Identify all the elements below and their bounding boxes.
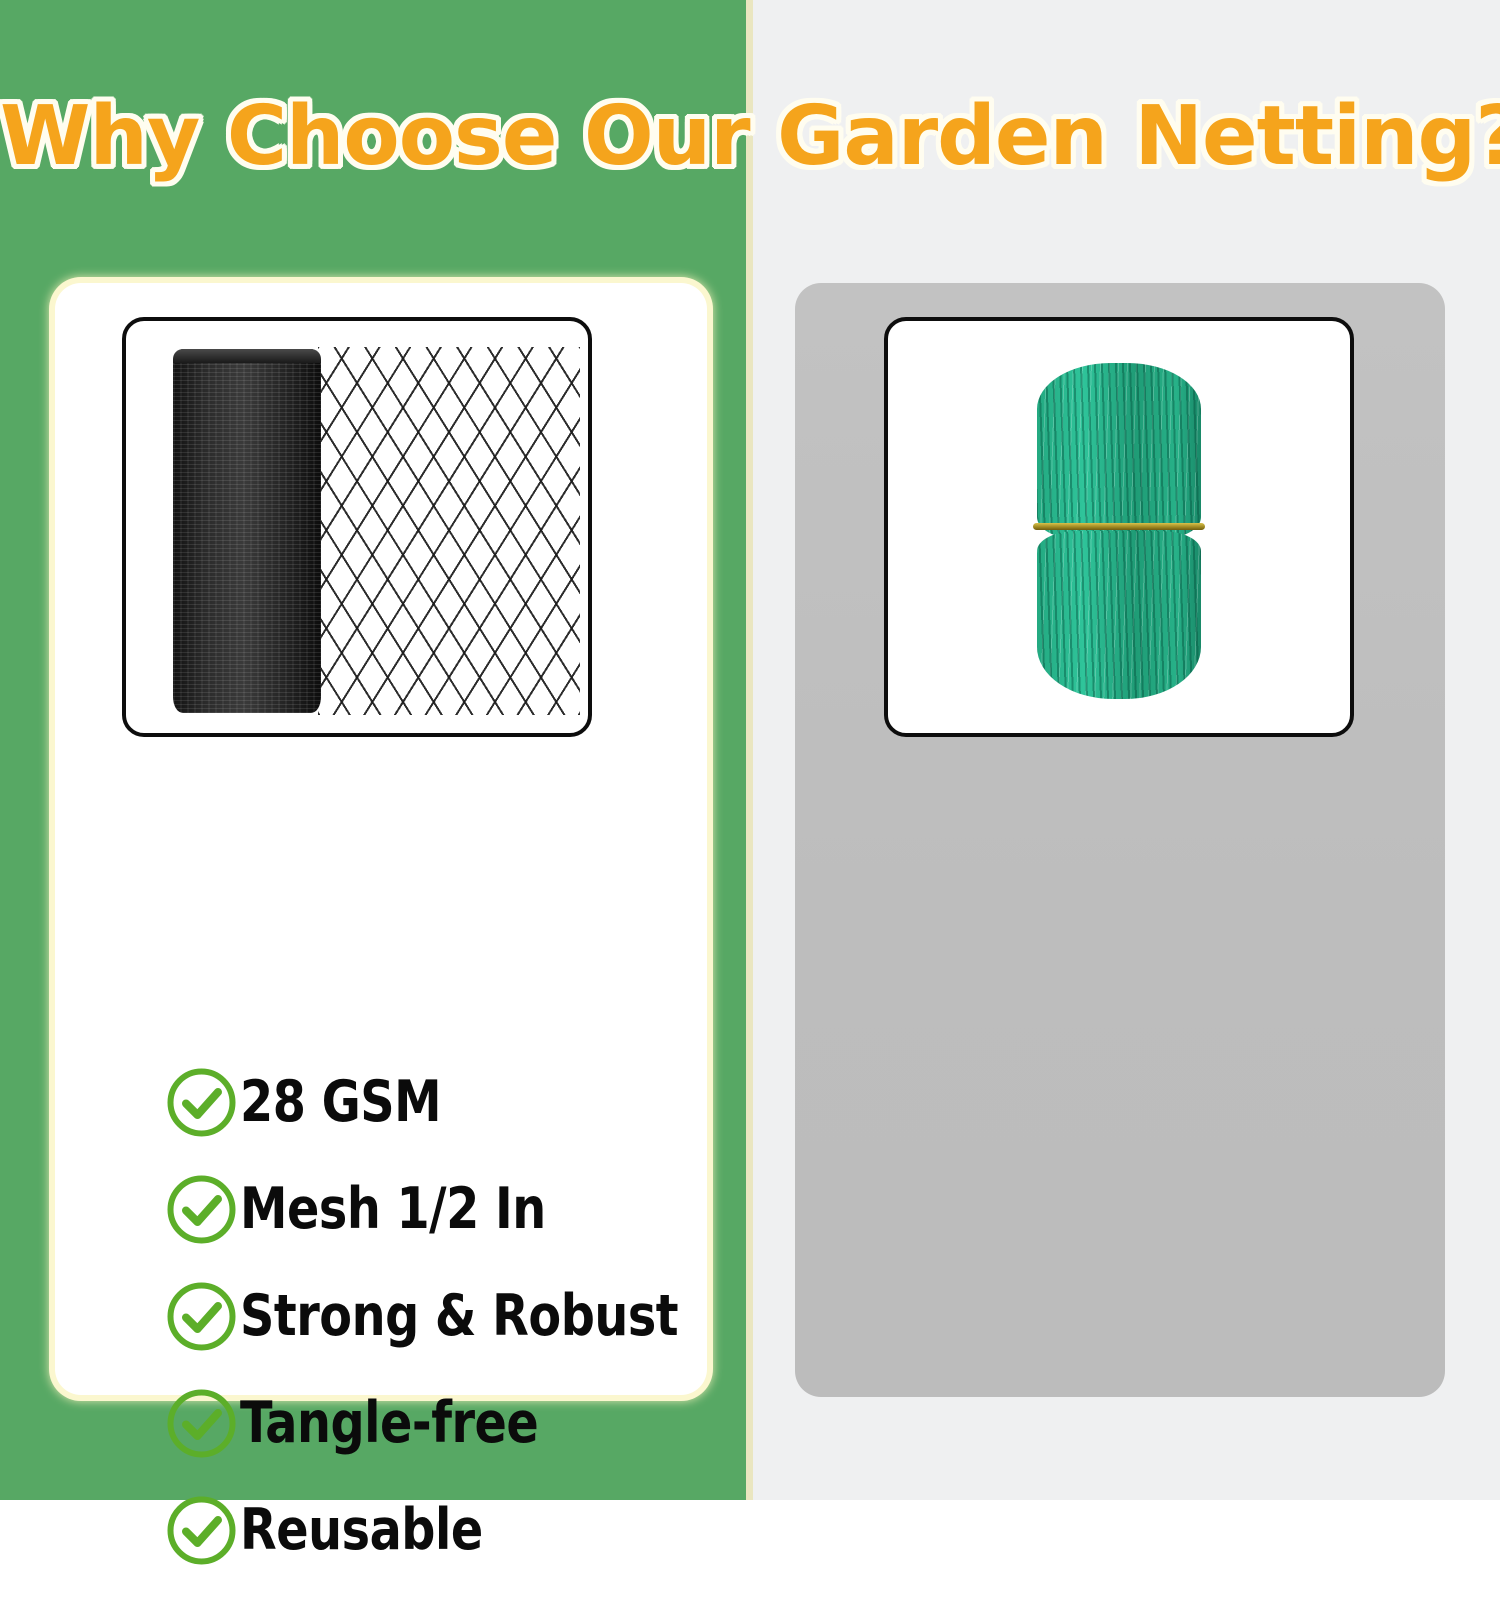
feature-list-ours: 28 GSM Mesh 1/2 In Str [165, 1066, 725, 1601]
mesh-pattern [318, 347, 580, 715]
feature-label: Strong & Robust [240, 1288, 678, 1345]
check-circle-icon [165, 1387, 238, 1460]
list-item: Tangle-free [165, 1387, 725, 1460]
infographic-canvas: Why Choose Our Garden Netting? 28 GSM [0, 0, 1500, 1500]
check-circle-icon [165, 1280, 238, 1353]
netting-roll [173, 349, 321, 713]
feature-label: Reusable [240, 1502, 483, 1559]
check-circle-icon [165, 1066, 238, 1139]
product-photo-black-netting-roll [122, 317, 592, 737]
bundle-lower-half [1037, 531, 1201, 699]
bundle-tie-string [1033, 523, 1205, 530]
netting-bundle [1037, 363, 1201, 699]
feature-label: Tangle-free [240, 1395, 538, 1452]
page-title: Why Choose Our Garden Netting? [0, 96, 1500, 178]
list-item: Mesh 1/2 In [165, 1173, 725, 1246]
product-photo-green-bundled-netting [884, 317, 1354, 737]
check-circle-icon [165, 1173, 238, 1246]
list-item: Strong & Robust [165, 1280, 725, 1353]
bundle-upper-half [1037, 363, 1201, 539]
comparison-card-others: 6-8 GSM Mesh 3/4 In Fr [795, 283, 1445, 1397]
list-item: Reusable [165, 1494, 725, 1567]
feature-label: 28 GSM [240, 1074, 441, 1131]
check-circle-icon [165, 1494, 238, 1567]
list-item: 28 GSM [165, 1066, 725, 1139]
feature-label: Mesh 1/2 In [240, 1181, 546, 1238]
panel-divider [746, 0, 753, 1500]
comparison-card-ours: 28 GSM Mesh 1/2 In Str [55, 283, 707, 1395]
